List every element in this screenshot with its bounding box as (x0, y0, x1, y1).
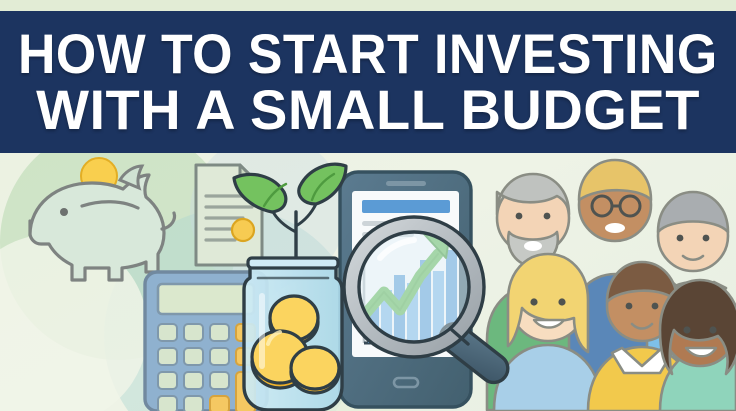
calculator-display (158, 284, 254, 314)
people-group (487, 160, 736, 411)
page-title-line-2: With A Small Budget (36, 83, 700, 137)
person-curly-woman (660, 280, 736, 411)
poster-canvas: How To Start Investing With A Small Budg… (0, 0, 736, 411)
top-accent-strip (0, 0, 736, 11)
page-title-line-1: How To Start Investing (18, 27, 718, 81)
phone-speaker (386, 181, 426, 186)
title-banner: How To Start Investing With A Small Budg… (0, 11, 736, 153)
app-header-bar (362, 200, 450, 213)
